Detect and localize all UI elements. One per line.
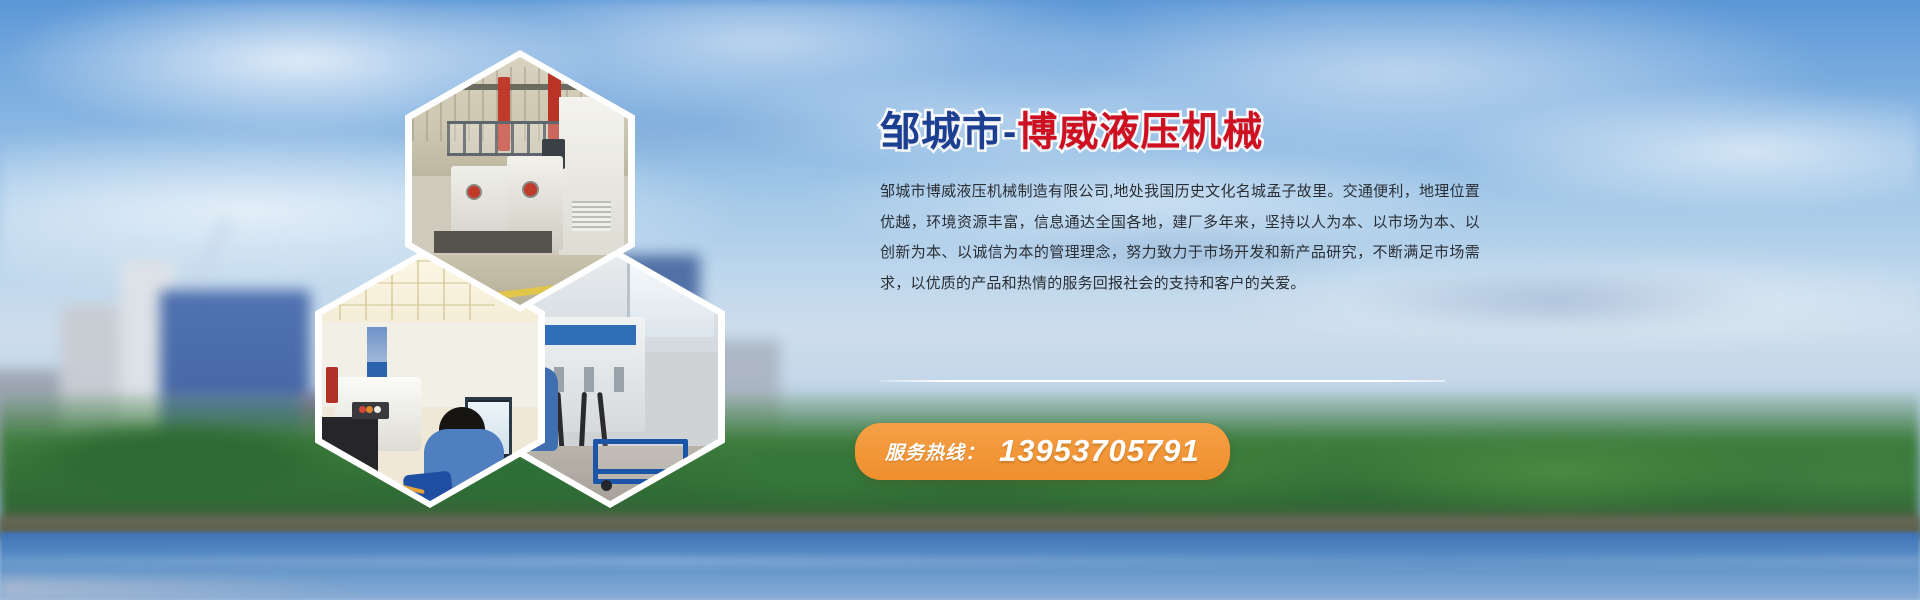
content-divider — [880, 380, 1445, 382]
company-title-brand: 博威液压机械 — [1017, 110, 1263, 154]
water-haze — [0, 578, 360, 600]
service-hotline-button[interactable]: 服务热线： 13953705791 — [855, 423, 1230, 480]
hotline-label: 服务热线： — [885, 438, 985, 465]
water-reflection — [0, 556, 1920, 566]
hero-banner: 邹城市-博威液压机械 邹城市博威液压机械制造有限公司,地处我国历史文化名城孟子故… — [0, 0, 1920, 600]
company-title-location: 邹城市- — [880, 110, 1017, 154]
banner-content: 邹城市-博威液压机械 邹城市博威液压机械制造有限公司,地处我国历史文化名城孟子故… — [880, 110, 1500, 300]
hotline-number: 13953705791 — [999, 433, 1200, 469]
company-description-text: 邹城市博威液压机械制造有限公司,地处我国历史文化名城孟子故里。交通便利，地理位置… — [880, 177, 1480, 300]
machining-workshop-image — [412, 57, 628, 305]
hexagon-photo-cluster — [270, 50, 730, 450]
company-description: 邹城市博威液压机械制造有限公司,地处我国历史文化名城孟子故里。交通便利，地理位置… — [880, 177, 1480, 300]
company-title: 邹城市-博威液压机械 — [880, 110, 1500, 155]
